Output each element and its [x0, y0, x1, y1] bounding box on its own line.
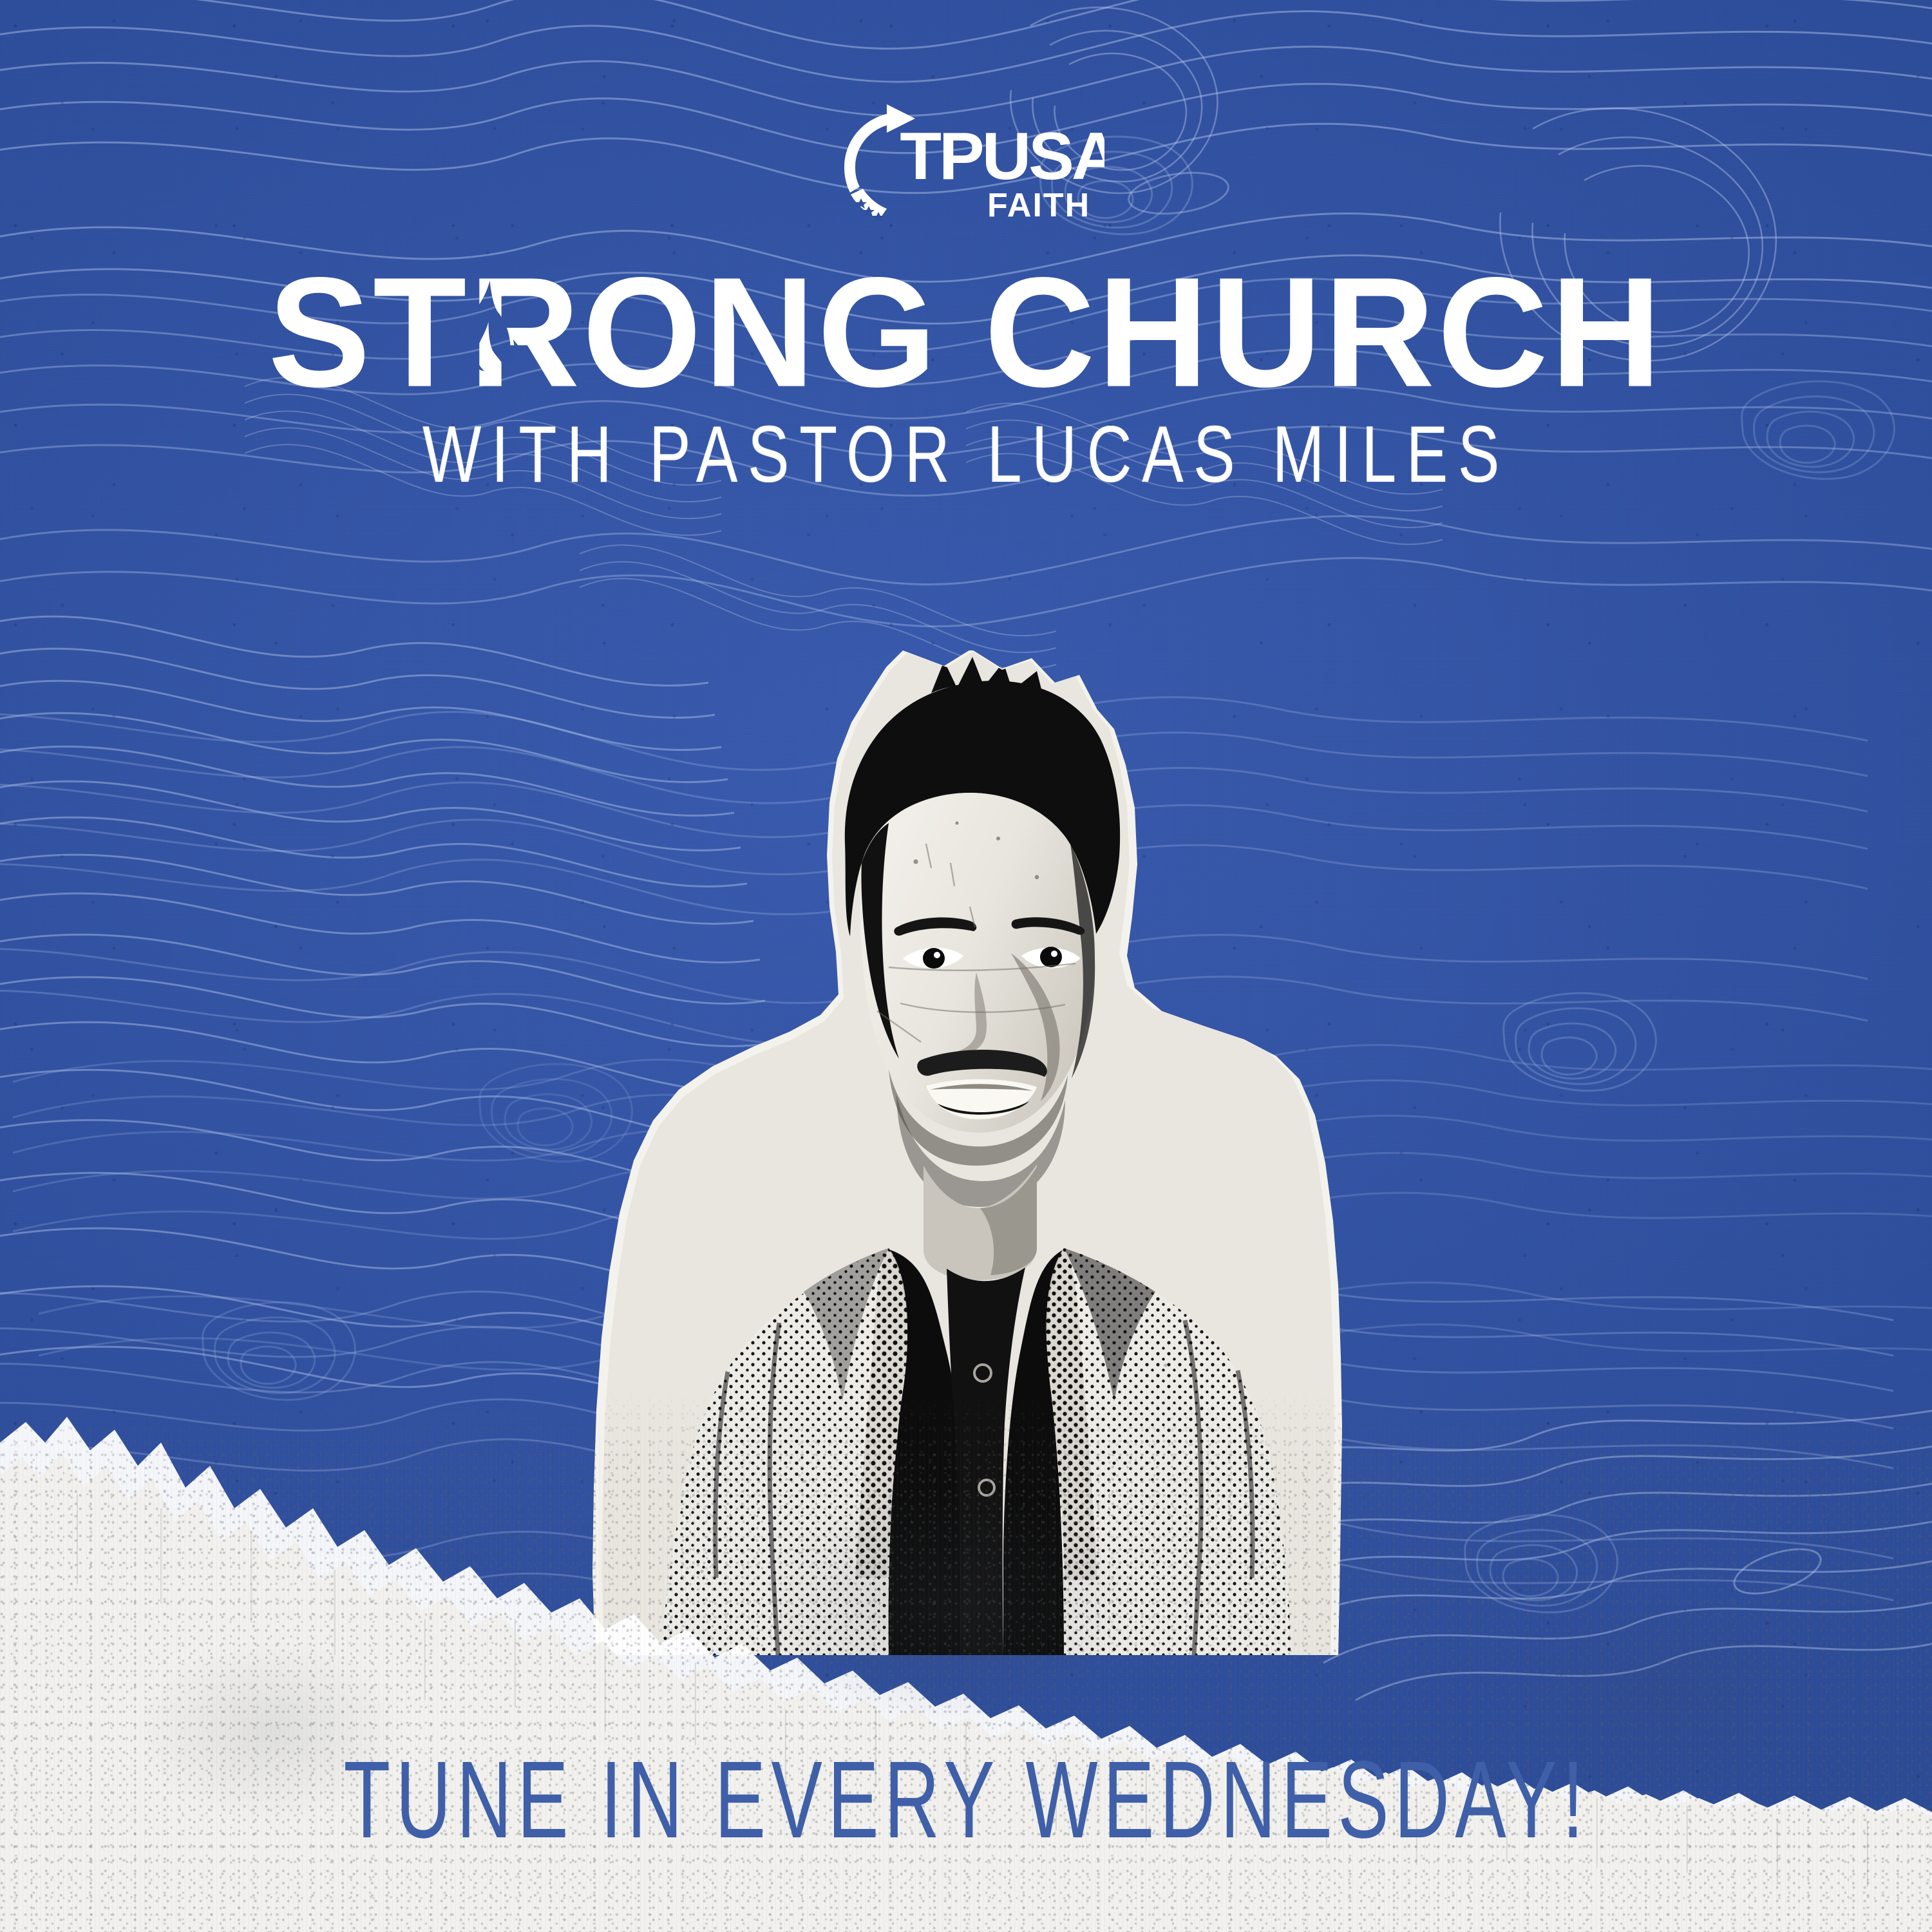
tune-in-text: TUNE IN EVERY WEDNESDAY!	[343, 1745, 1589, 1855]
podcast-cover-art: TPUSA FAITH STRONG CHURCH WITH PASTOR LU	[0, 0, 1932, 1932]
footer-callout: TUNE IN EVERY WEDNESDAY!	[0, 1745, 1932, 1855]
tpusa-faith-logo: TPUSA FAITH	[828, 97, 1104, 232]
svg-text:TPUSA: TPUSA	[900, 119, 1104, 194]
svg-text:FAITH: FAITH	[987, 187, 1090, 224]
portrait-photo	[586, 650, 1346, 1655]
pastor-lucas-miles-portrait	[586, 650, 1346, 1655]
